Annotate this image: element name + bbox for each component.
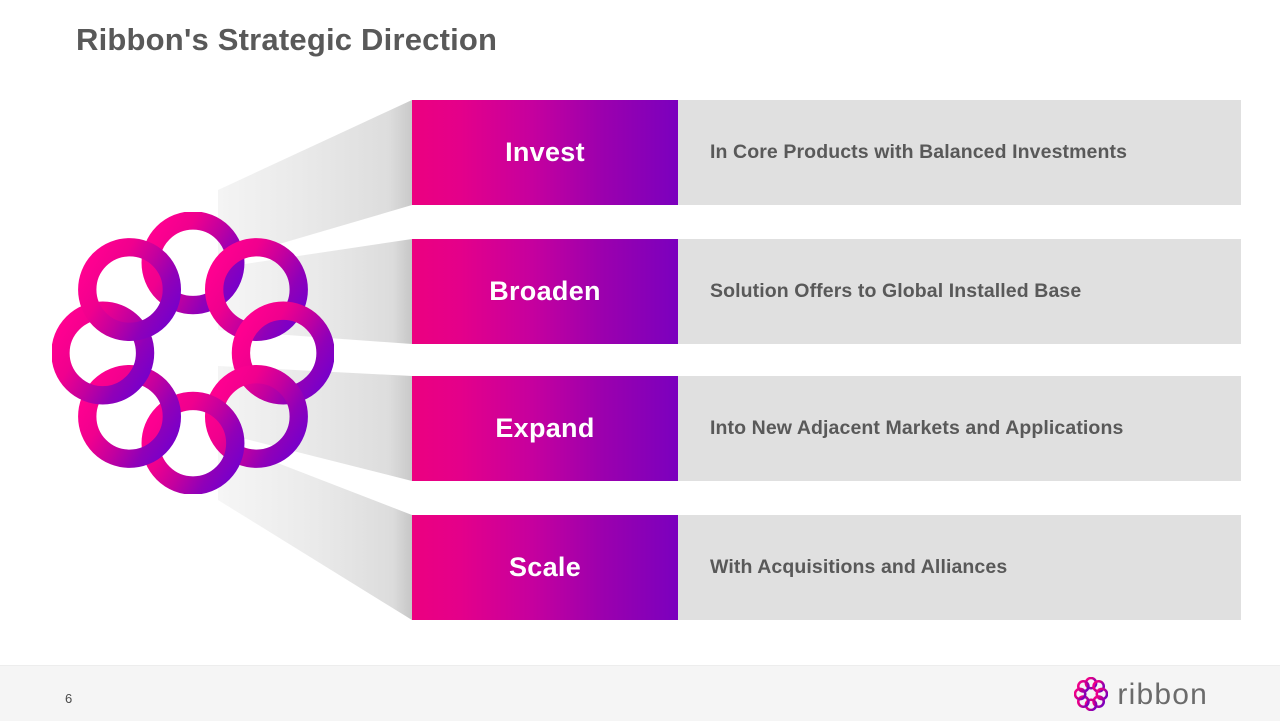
strategy-row-description: Into New Adjacent Markets and Applicatio… [678, 417, 1123, 440]
strategy-row-chip[interactable]: Broaden [412, 239, 678, 344]
brand-wordmark: ribbon [1117, 680, 1208, 710]
strategy-row[interactable]: Invest In Core Products with Balanced In… [412, 100, 1241, 205]
page-number: 6 [65, 691, 72, 706]
strategy-row-label: Scale [509, 552, 581, 583]
strategy-row-chip[interactable]: Expand [412, 376, 678, 481]
strategy-row-description: With Acquisitions and Alliances [678, 556, 1007, 579]
slide-footer: 6 [0, 665, 1280, 721]
footer-brand-logo: ribbon [1074, 677, 1208, 711]
strategy-row-panel: Into New Adjacent Markets and Applicatio… [678, 376, 1241, 481]
strategy-row-panel: With Acquisitions and Alliances [678, 515, 1241, 620]
strategy-row[interactable]: Broaden Solution Offers to Global Instal… [412, 239, 1241, 344]
strategy-row[interactable]: Scale With Acquisitions and Alliances [412, 515, 1241, 620]
strategy-row-label: Broaden [489, 276, 601, 307]
strategy-row[interactable]: Expand Into New Adjacent Markets and App… [412, 376, 1241, 481]
strategy-row-panel: Solution Offers to Global Installed Base [678, 239, 1241, 344]
strategy-row-description: In Core Products with Balanced Investmen… [678, 141, 1127, 164]
strategy-row-label: Expand [495, 413, 594, 444]
strategy-row-chip[interactable]: Scale [412, 515, 678, 620]
ribbon-ring-logo-icon [1074, 677, 1108, 711]
strategy-row-chip[interactable]: Invest [412, 100, 678, 205]
strategy-row-label: Invest [505, 137, 585, 168]
strategy-row-panel: In Core Products with Balanced Investmen… [678, 100, 1241, 205]
ribbon-ring-logo-icon [52, 212, 334, 494]
slide-canvas: Ribbon's Strategic Direction [0, 0, 1280, 720]
strategy-row-description: Solution Offers to Global Installed Base [678, 280, 1081, 303]
